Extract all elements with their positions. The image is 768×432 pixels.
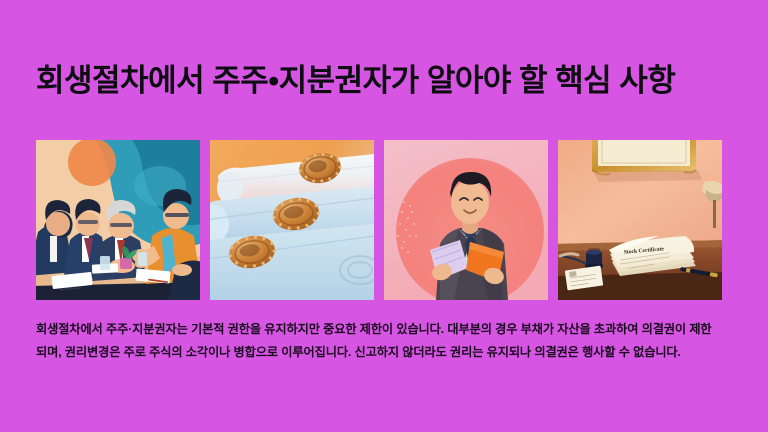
image-gallery-row: Stock Certificate <box>36 140 732 300</box>
business-meeting-artwork <box>36 140 200 300</box>
page-title: 회생절차에서 주주•지분권자가 알아야 할 핵심 사항 <box>36 62 736 101</box>
sealed-scroll-documents <box>210 140 374 300</box>
businessman-reading-documents <box>384 140 548 300</box>
body-line-2: 되며, 권리변경은 주로 주식의 소각이나 병합으로 이루어집니다. 신고하지 … <box>36 341 736 364</box>
stock-certificates-artwork: Stock Certificate <box>558 140 722 300</box>
body-paragraph: 회생절차에서 주주·지분권자는 기본적 권한을 유지하지만 중요한 제한이 있습… <box>36 318 736 365</box>
business-meeting-illustration <box>36 140 200 300</box>
sealed-scroll-artwork <box>210 140 374 300</box>
businessman-reading-artwork <box>384 140 548 300</box>
stock-certificates-on-desk: Stock Certificate <box>558 140 722 300</box>
slide-canvas: 회생절차에서 주주•지분권자가 알아야 할 핵심 사항 <box>0 0 768 432</box>
body-line-1: 회생절차에서 주주·지분권자는 기본적 권한을 유지하지만 중요한 제한이 있습… <box>36 318 736 341</box>
